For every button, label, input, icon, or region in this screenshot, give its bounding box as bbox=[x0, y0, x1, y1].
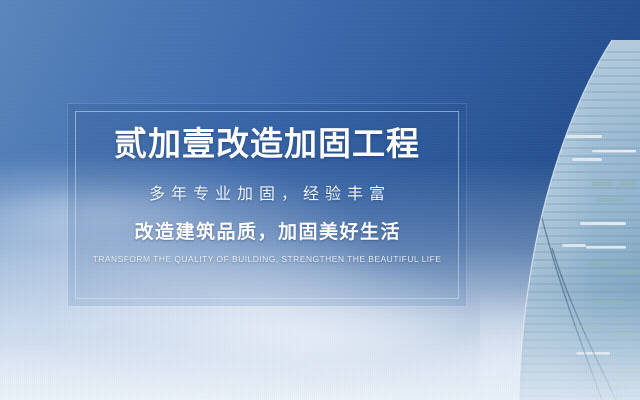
banner-image: 贰加壹改造加固工程 多年专业加固，经验丰富 改造建筑品质，加固美好生活 TRAN… bbox=[0, 0, 640, 400]
image-grain-overlay bbox=[0, 0, 640, 400]
